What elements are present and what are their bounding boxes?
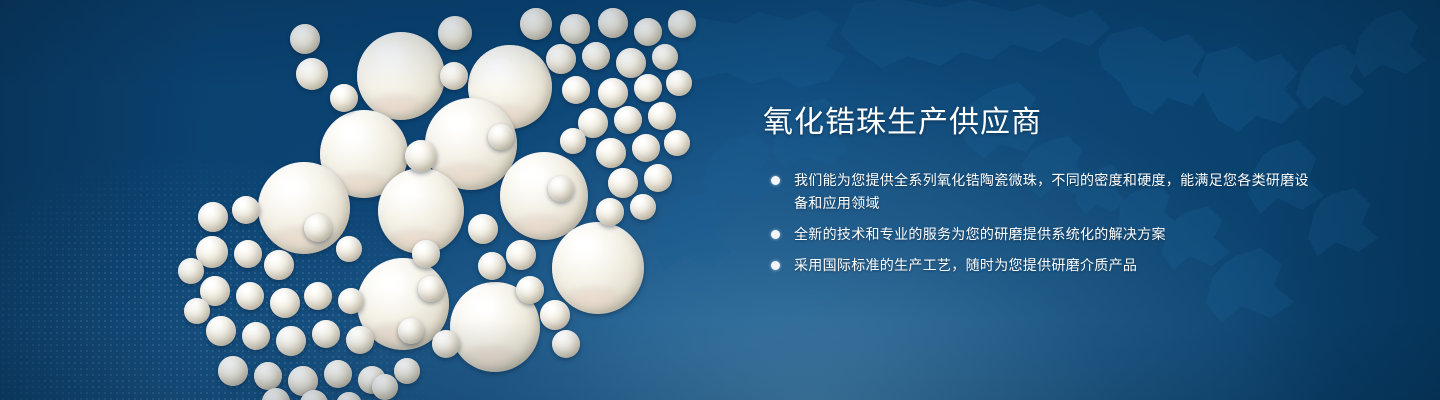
list-item-label: 我们能为您提供全系列氧化锆陶瓷微珠，不同的密度和硬度，能满足您各类研磨设备和应用… <box>794 172 1309 211</box>
page-title: 氧化锆珠生产供应商 <box>763 104 1323 142</box>
bullet-dot-icon <box>771 261 780 270</box>
bullet-dot-icon <box>771 230 780 239</box>
halftone-texture <box>0 60 640 400</box>
hero-banner: 氧化锆珠生产供应商 我们能为您提供全系列氧化锆陶瓷微珠，不同的密度和硬度，能满足… <box>0 0 1440 400</box>
list-item-label: 全新的技术和专业的服务为您的研磨提供系统化的解决方案 <box>794 226 1166 242</box>
bullet-dot-icon <box>771 176 780 185</box>
list-item: 我们能为您提供全系列氧化锆陶瓷微珠，不同的密度和硬度，能满足您各类研磨设备和应用… <box>763 169 1323 215</box>
list-item: 全新的技术和专业的服务为您的研磨提供系统化的解决方案 <box>763 223 1323 246</box>
list-item: 采用国际标准的生产工艺，随时为您提供研磨介质产品 <box>763 254 1323 277</box>
feature-list: 我们能为您提供全系列氧化锆陶瓷微珠，不同的密度和硬度，能满足您各类研磨设备和应用… <box>763 169 1323 277</box>
list-item-label: 采用国际标准的生产工艺，随时为您提供研磨介质产品 <box>794 257 1137 273</box>
banner-copy: 氧化锆珠生产供应商 我们能为您提供全系列氧化锆陶瓷微珠，不同的密度和硬度，能满足… <box>763 104 1323 277</box>
